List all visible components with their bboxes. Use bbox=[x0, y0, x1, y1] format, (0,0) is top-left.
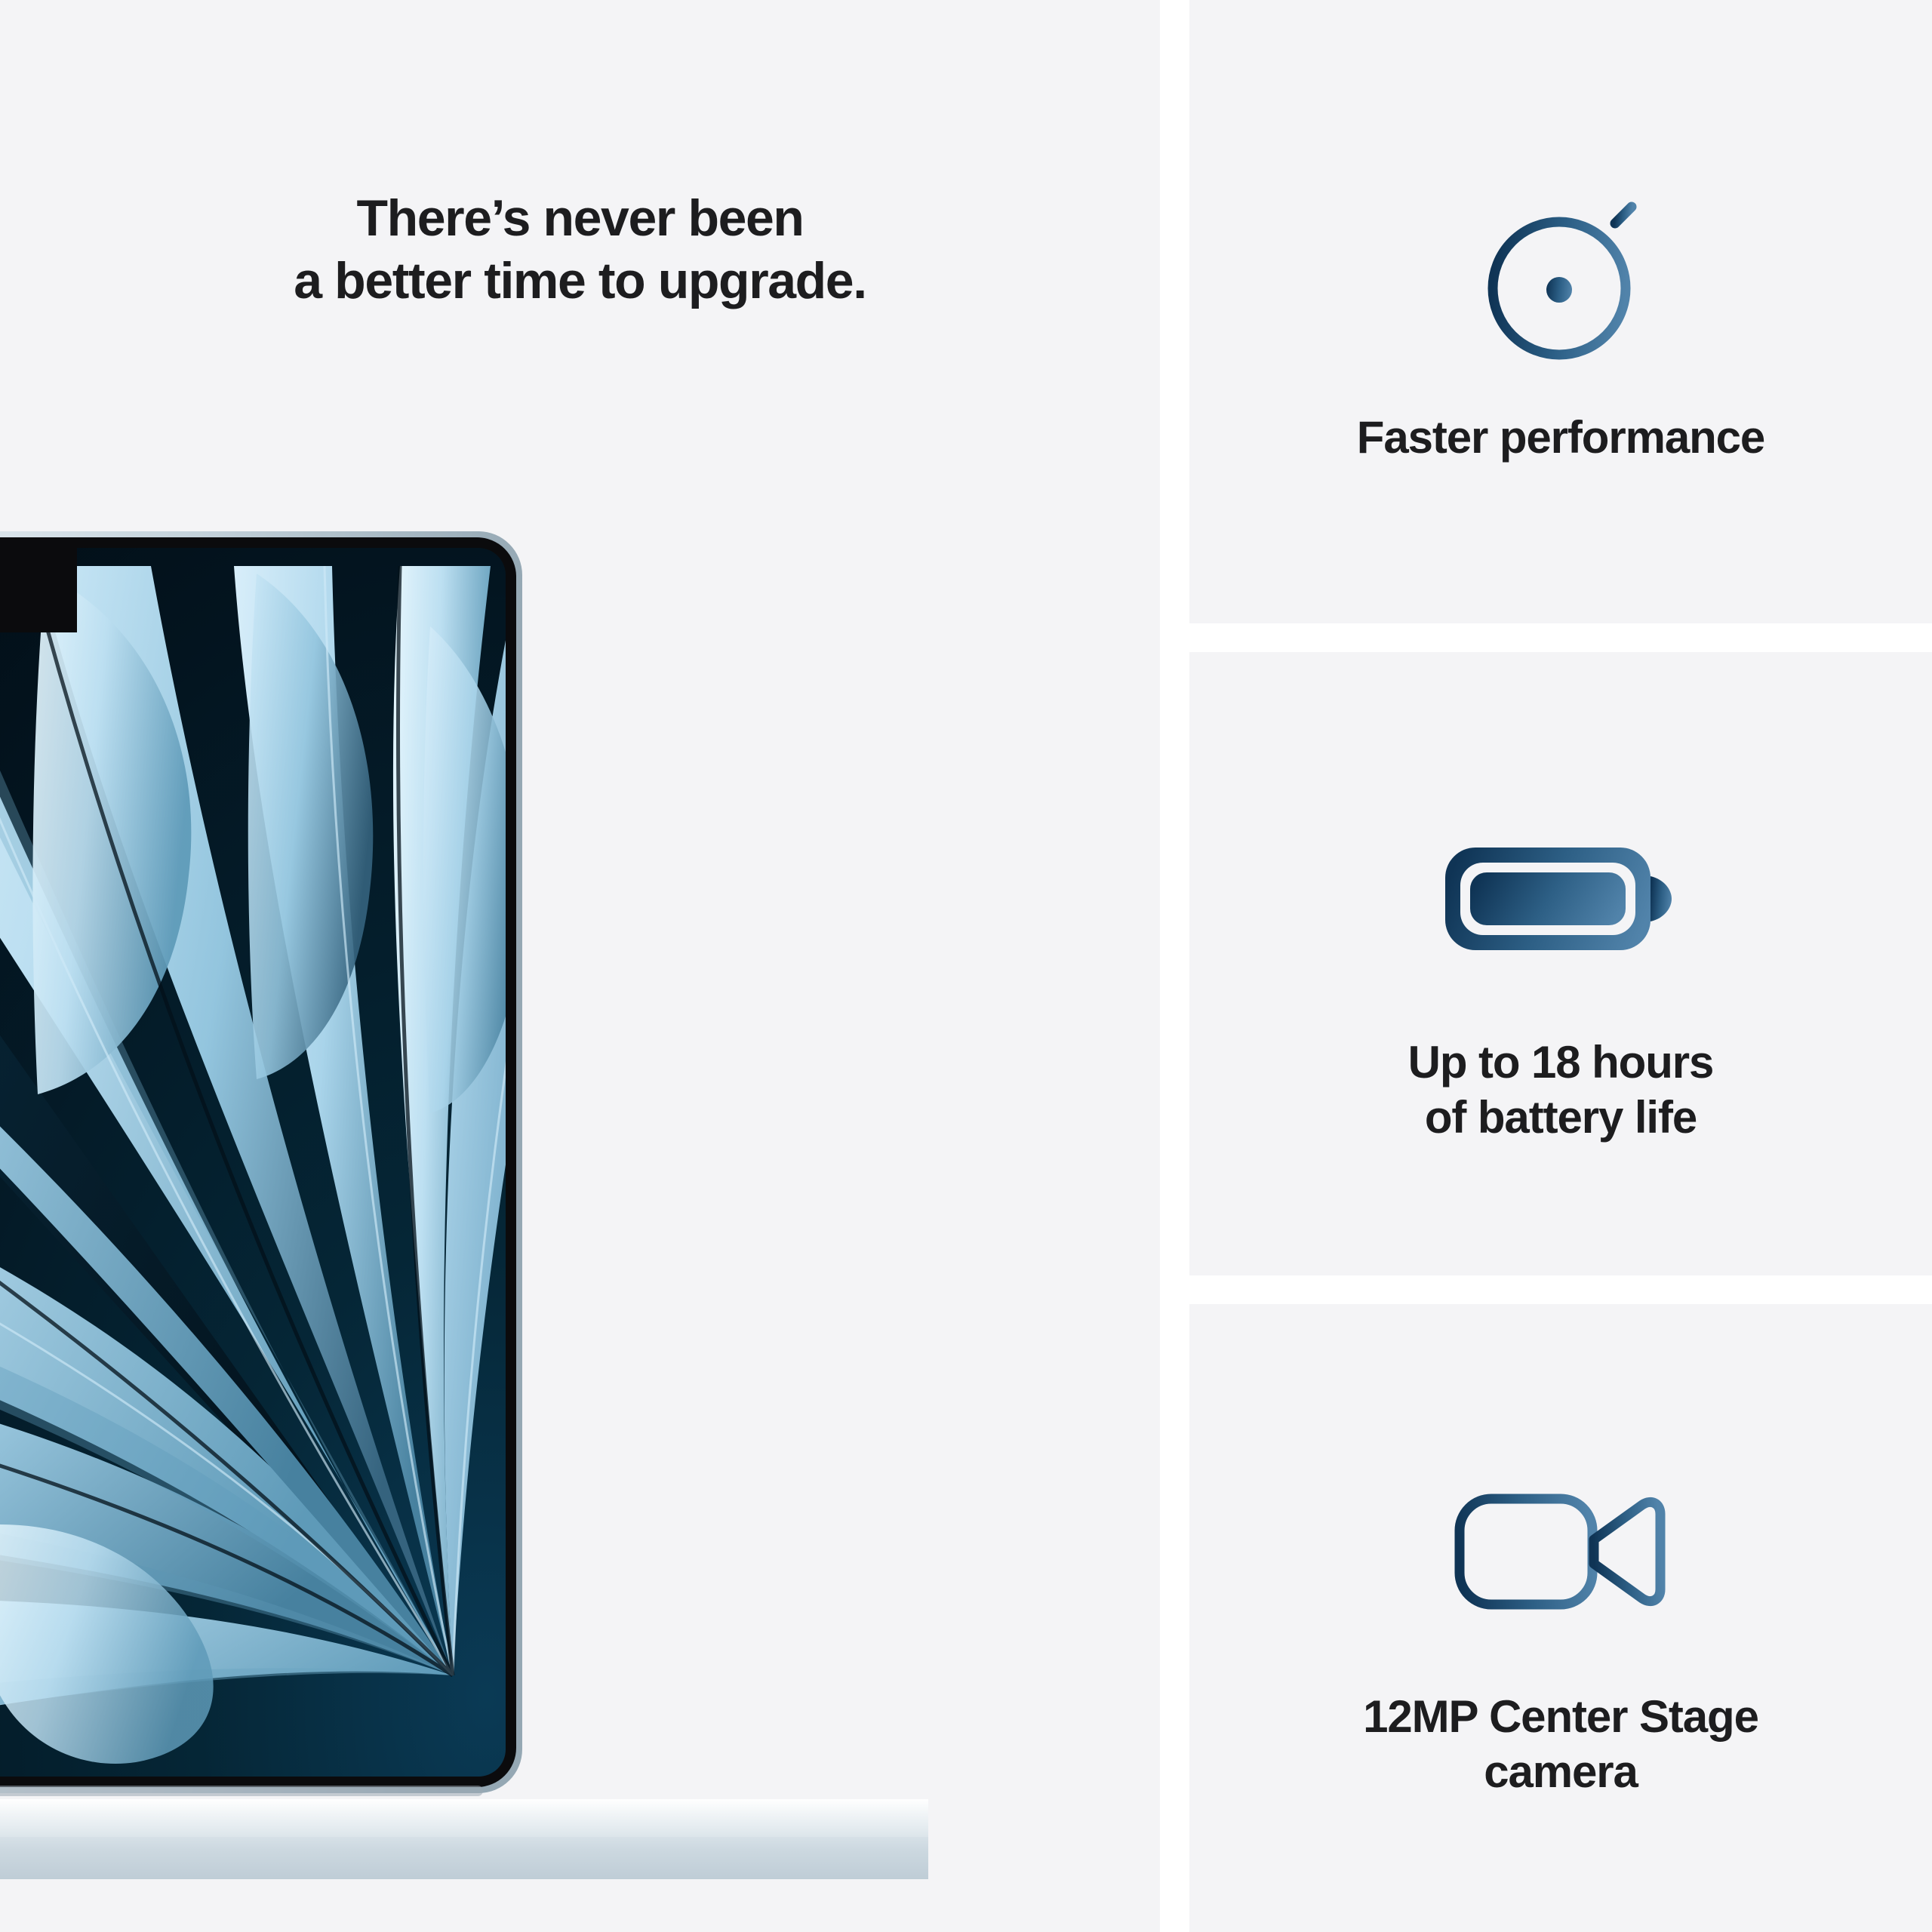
battery-icon-slot bbox=[1436, 783, 1685, 1009]
feature-panel-battery: Up to 18 hours of battery life bbox=[1189, 652, 1932, 1275]
camera-icon-slot bbox=[1447, 1437, 1674, 1663]
feature-label-performance: Faster performance bbox=[1327, 410, 1795, 465]
macbook-air-product-image bbox=[0, 521, 928, 1879]
stopwatch-icon-slot bbox=[1470, 158, 1651, 384]
stopwatch-icon bbox=[1470, 177, 1651, 365]
video-camera-icon bbox=[1447, 1482, 1674, 1618]
battery-full-icon bbox=[1436, 828, 1685, 964]
feature-label-battery: Up to 18 hours of battery life bbox=[1378, 1035, 1744, 1145]
page-root: There’s never been a better time to upgr… bbox=[0, 0, 1932, 1932]
feature-panel-camera: 12MP Center Stage camera bbox=[1189, 1304, 1932, 1932]
feature-panel-performance: Faster performance bbox=[1189, 0, 1932, 623]
hero-panel: There’s never been a better time to upgr… bbox=[0, 0, 1160, 1932]
hero-headline: There’s never been a better time to upgr… bbox=[0, 187, 1160, 312]
feature-label-camera: 12MP Center Stage camera bbox=[1333, 1689, 1789, 1799]
